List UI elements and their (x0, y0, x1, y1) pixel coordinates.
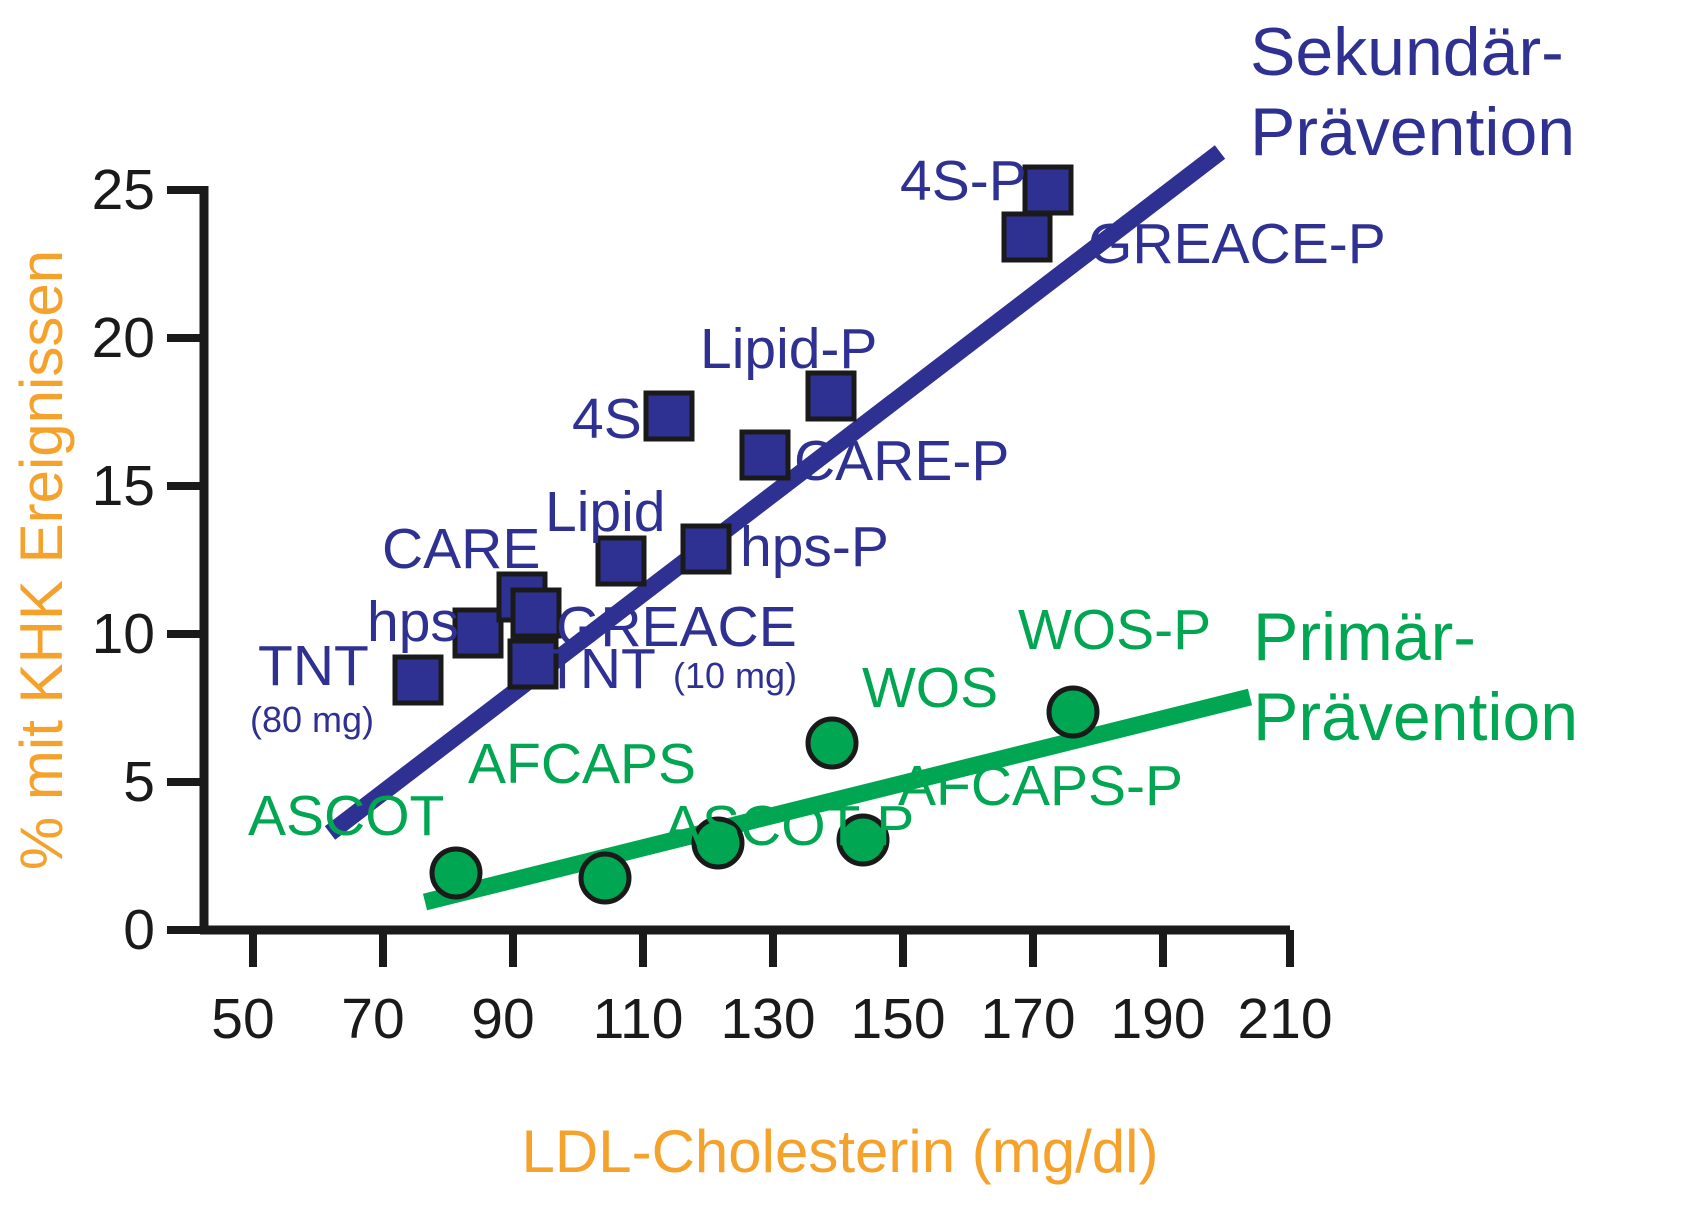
x-tick-label-90: 90 (471, 987, 534, 1051)
marker-4s[interactable] (646, 393, 692, 439)
legend-primary-line1: Primär- (1253, 599, 1476, 675)
x-axis: 50 70 90 110 130 150 170 190 210 (200, 930, 1333, 1051)
y-tick-label-5: 5 (123, 750, 155, 814)
label-tnt-80mg: TNT (258, 634, 369, 698)
legend-primary-line2: Prävention (1253, 679, 1578, 755)
x-tick-label-210: 210 (1237, 987, 1332, 1051)
chart-container: 25 20 15 10 5 0 50 70 90 110 130 150 170 (0, 0, 1684, 1206)
marker-wos[interactable] (808, 719, 856, 767)
label-tnt-10mg: TNT (545, 637, 656, 701)
marker-greace-p[interactable] (1004, 214, 1050, 260)
coronary-event-scatter-plot: 25 20 15 10 5 0 50 70 90 110 130 150 170 (0, 0, 1684, 1206)
x-tick-label-130: 130 (720, 987, 815, 1051)
marker-ascot-p[interactable] (581, 854, 629, 902)
y-tick-label-25: 25 (92, 158, 155, 222)
marker-ascot[interactable] (432, 849, 480, 897)
x-tick-label-170: 170 (980, 987, 1075, 1051)
y-tick-label-15: 15 (92, 454, 155, 518)
label-ascot: ASCOT (248, 784, 444, 848)
label-hps: hps (367, 590, 459, 654)
marker-hps-p[interactable] (683, 526, 729, 572)
marker-wos-p[interactable] (1049, 688, 1097, 736)
x-axis-title: LDL-Cholesterin (mg/dl) (522, 1118, 1159, 1185)
label-tnt-10mg-dose: (10 mg) (673, 655, 797, 696)
label-lipid-p: Lipid-P (700, 317, 877, 381)
y-axis-title: % mit KHK Ereignissen (8, 250, 75, 870)
label-lipid: Lipid (545, 480, 665, 544)
y-axis: 25 20 15 10 5 0 (92, 158, 204, 962)
legend: Sekundär- Prävention Primär- Prävention (1250, 14, 1578, 755)
marker-tnt-80mg[interactable] (395, 657, 441, 703)
label-4s: 4S (572, 387, 642, 451)
marker-care-p[interactable] (742, 432, 788, 478)
marker-greace[interactable] (513, 590, 559, 636)
label-ascot-p: ASCOT-P (664, 794, 914, 858)
y-tick-label-20: 20 (92, 306, 155, 370)
label-greace-p: GREACE-P (1088, 212, 1386, 276)
y-tick-label-10: 10 (92, 602, 155, 666)
label-wos: WOS (862, 656, 998, 720)
label-4s-p: 4S-P (900, 149, 1027, 213)
legend-secondary-line2: Prävention (1250, 94, 1575, 170)
marker-hps[interactable] (455, 610, 501, 656)
marker-lipid[interactable] (598, 538, 644, 584)
label-care: CARE (382, 517, 540, 581)
label-afcaps: AFCAPS (468, 732, 696, 796)
x-tick-label-50: 50 (211, 987, 274, 1051)
label-afcaps-p: AFCAPS-P (898, 754, 1183, 818)
legend-secondary-line1: Sekundär- (1250, 14, 1564, 90)
label-hps-p: hps-P (740, 515, 889, 579)
x-tick-label-190: 190 (1110, 987, 1205, 1051)
x-tick-label-70: 70 (341, 987, 404, 1051)
marker-4s-p[interactable] (1025, 167, 1071, 213)
label-wos-p: WOS-P (1018, 598, 1211, 662)
y-tick-label-0: 0 (123, 898, 155, 962)
x-tick-label-150: 150 (850, 987, 945, 1051)
label-tnt-80mg-dose: (80 mg) (250, 699, 374, 740)
label-care-p: CARE-P (794, 429, 1009, 493)
x-tick-label-110: 110 (593, 987, 684, 1051)
